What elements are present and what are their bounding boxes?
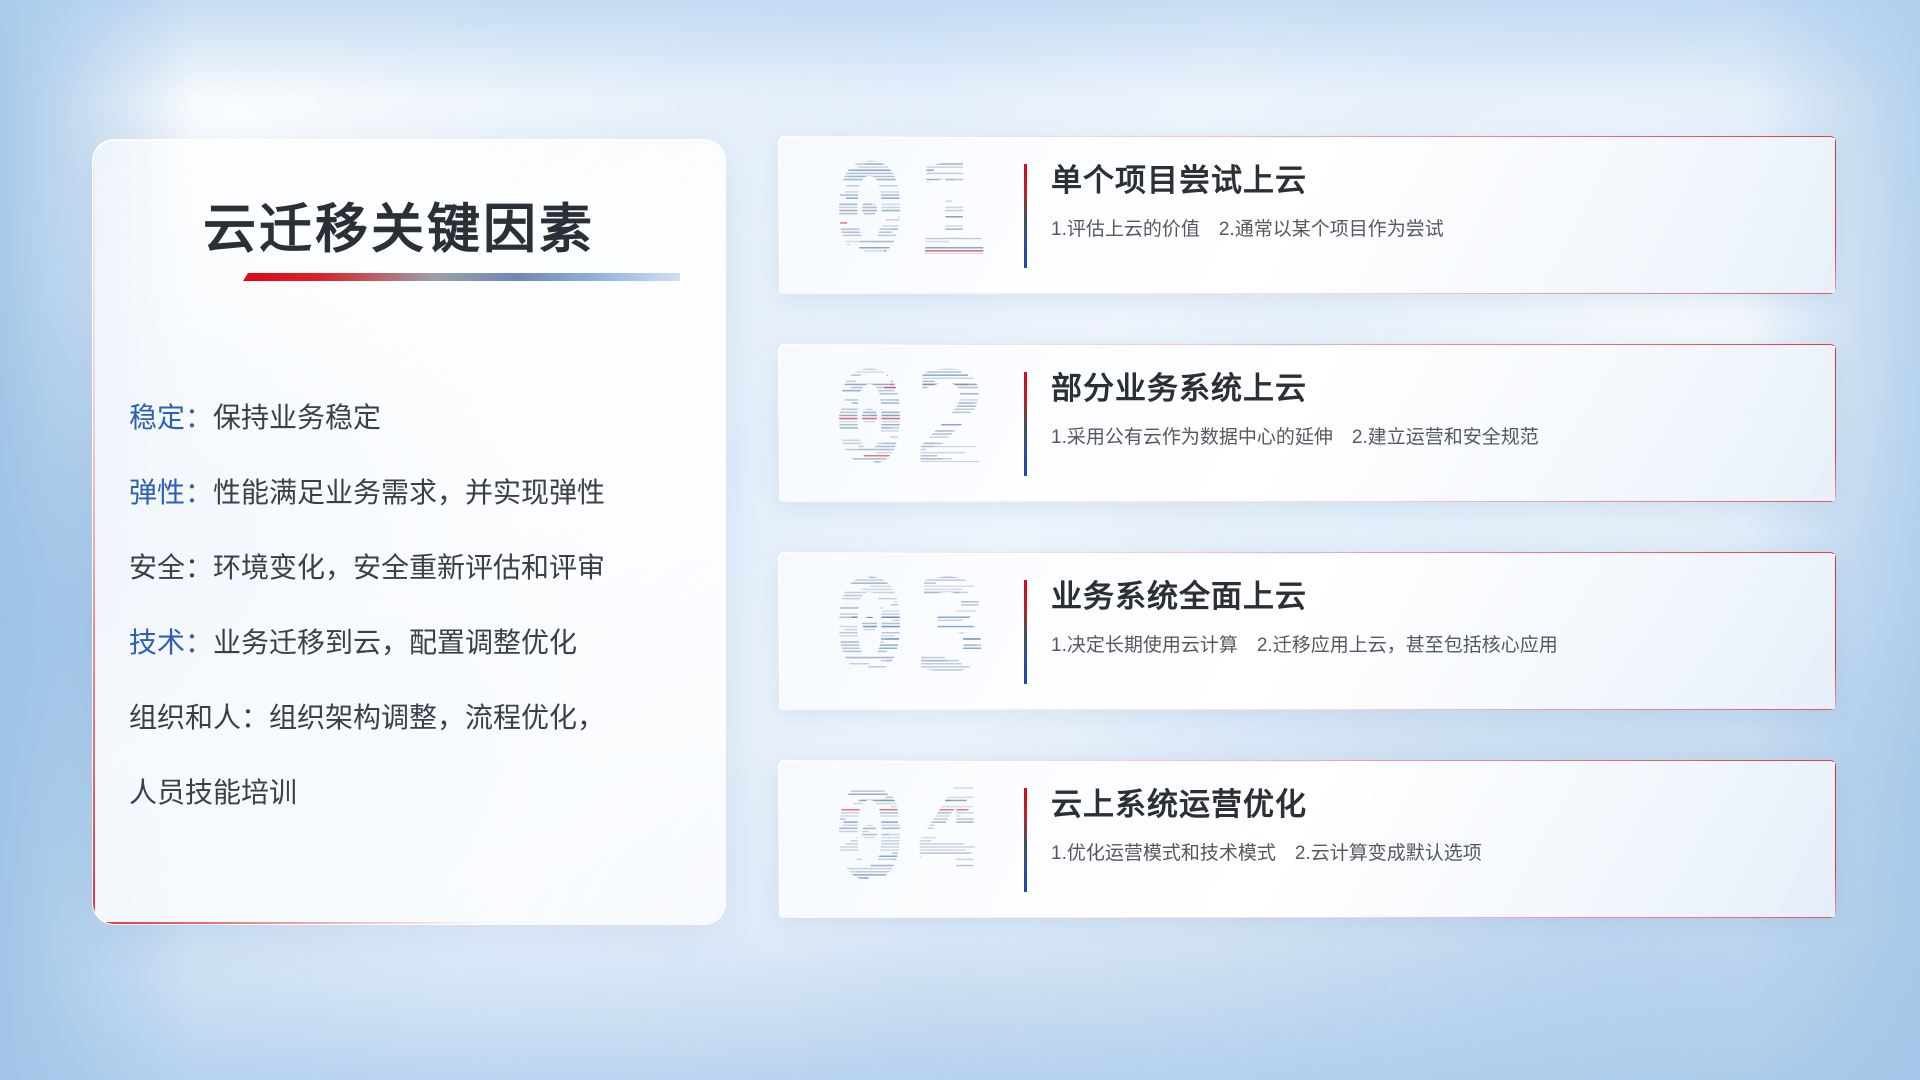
card-divider-line bbox=[1024, 788, 1027, 892]
factor-value: 性能满足业务需求，并实现弹性 bbox=[213, 477, 605, 508]
factor-list: 稳定：保持业务稳定 弹性：性能满足业务需求，并实现弹性 安全：环境变化，安全重新… bbox=[129, 380, 699, 830]
factor-value: 人员技能培训 bbox=[129, 777, 297, 808]
card-border-top bbox=[778, 136, 1836, 138]
stage-card[interactable]: 03 业务系统全面上云 1.决定长期使用云计算 2.迁移应用上云，甚至包括核心应… bbox=[778, 552, 1836, 710]
stage-card[interactable]: 04 云上系统运营优化 1.优化运营模式和技术模式 2.云计算变成默认选项 bbox=[778, 760, 1836, 918]
panel-accent-rule bbox=[93, 922, 485, 924]
card-number-watermark: 01 bbox=[806, 150, 1021, 280]
list-item: 组织和人：组织架构调整，流程优化， bbox=[129, 680, 699, 755]
card-border-right bbox=[1835, 344, 1837, 502]
page-title: 云迁移关键因素 bbox=[203, 187, 595, 263]
card-border-top bbox=[778, 760, 1836, 762]
card-border-left bbox=[778, 552, 779, 710]
factor-value: 环境变化，安全重新评估和评审 bbox=[213, 552, 605, 583]
card-number-watermark: 04 bbox=[806, 774, 1021, 904]
card-border-top bbox=[778, 344, 1836, 346]
card-description: 1.决定长期使用云计算 2.迁移应用上云，甚至包括核心应用 bbox=[1051, 632, 1812, 660]
key-factors-panel: 云迁移关键因素 稳定：保持业务稳定 弹性：性能满足业务需求，并实现弹性 安全：环… bbox=[92, 139, 726, 925]
card-number-watermark: 02 bbox=[806, 358, 1021, 488]
card-title: 云上系统运营优化 bbox=[1051, 782, 1812, 828]
factor-value: 组织架构调整，流程优化， bbox=[269, 702, 605, 733]
card-border-top bbox=[778, 552, 1836, 554]
stage-card[interactable]: 01 单个项目尝试上云 1.评估上云的价值 2.通常以某个项目作为尝试 bbox=[778, 136, 1836, 294]
card-border-left bbox=[778, 344, 779, 502]
card-border-right bbox=[1835, 552, 1837, 710]
card-body: 业务系统全面上云 1.决定长期使用云计算 2.迁移应用上云，甚至包括核心应用 bbox=[1051, 574, 1812, 660]
stage-card-list: 01 单个项目尝试上云 1.评估上云的价值 2.通常以某个项目作为尝试 02 部… bbox=[778, 136, 1836, 968]
list-item: 安全：环境变化，安全重新评估和评审 bbox=[129, 530, 699, 605]
card-border-bottom bbox=[778, 709, 1836, 711]
list-item: 人员技能培训 bbox=[129, 755, 699, 830]
card-divider-line bbox=[1024, 164, 1027, 268]
factor-label: 弹性： bbox=[129, 477, 213, 508]
card-border-left bbox=[778, 136, 779, 294]
card-description: 1.采用公有云作为数据中心的延伸 2.建立运营和安全规范 bbox=[1051, 424, 1812, 452]
factor-label: 组织和人： bbox=[129, 702, 269, 733]
card-border-bottom bbox=[778, 917, 1836, 919]
card-divider-line bbox=[1024, 372, 1027, 476]
slide-stage: 云迁移关键因素 稳定：保持业务稳定 弹性：性能满足业务需求，并实现弹性 安全：环… bbox=[0, 0, 1920, 1080]
title-underline-gradient bbox=[243, 273, 680, 281]
factor-label: 稳定： bbox=[129, 402, 213, 433]
card-title: 业务系统全面上云 bbox=[1051, 574, 1812, 620]
factor-label: 安全： bbox=[129, 552, 213, 583]
factor-value: 业务迁移到云，配置调整优化 bbox=[213, 627, 577, 658]
factor-label: 技术： bbox=[129, 627, 213, 658]
card-border-left bbox=[778, 760, 779, 918]
card-title: 部分业务系统上云 bbox=[1051, 366, 1812, 412]
list-item: 弹性：性能满足业务需求，并实现弹性 bbox=[129, 455, 699, 530]
card-border-right bbox=[1835, 136, 1837, 294]
factor-value: 保持业务稳定 bbox=[213, 402, 381, 433]
list-item: 技术：业务迁移到云，配置调整优化 bbox=[129, 605, 699, 680]
card-title: 单个项目尝试上云 bbox=[1051, 158, 1812, 204]
card-body: 单个项目尝试上云 1.评估上云的价值 2.通常以某个项目作为尝试 bbox=[1051, 158, 1812, 244]
card-body: 云上系统运营优化 1.优化运营模式和技术模式 2.云计算变成默认选项 bbox=[1051, 782, 1812, 868]
card-border-bottom bbox=[778, 293, 1836, 295]
card-number-watermark: 03 bbox=[806, 566, 1021, 696]
list-item: 稳定：保持业务稳定 bbox=[129, 380, 699, 455]
stage-card[interactable]: 02 部分业务系统上云 1.采用公有云作为数据中心的延伸 2.建立运营和安全规范 bbox=[778, 344, 1836, 502]
card-border-right bbox=[1835, 760, 1837, 918]
card-description: 1.优化运营模式和技术模式 2.云计算变成默认选项 bbox=[1051, 840, 1812, 868]
card-border-bottom bbox=[778, 501, 1836, 503]
card-divider-line bbox=[1024, 580, 1027, 684]
card-description: 1.评估上云的价值 2.通常以某个项目作为尝试 bbox=[1051, 216, 1812, 244]
card-body: 部分业务系统上云 1.采用公有云作为数据中心的延伸 2.建立运营和安全规范 bbox=[1051, 366, 1812, 452]
